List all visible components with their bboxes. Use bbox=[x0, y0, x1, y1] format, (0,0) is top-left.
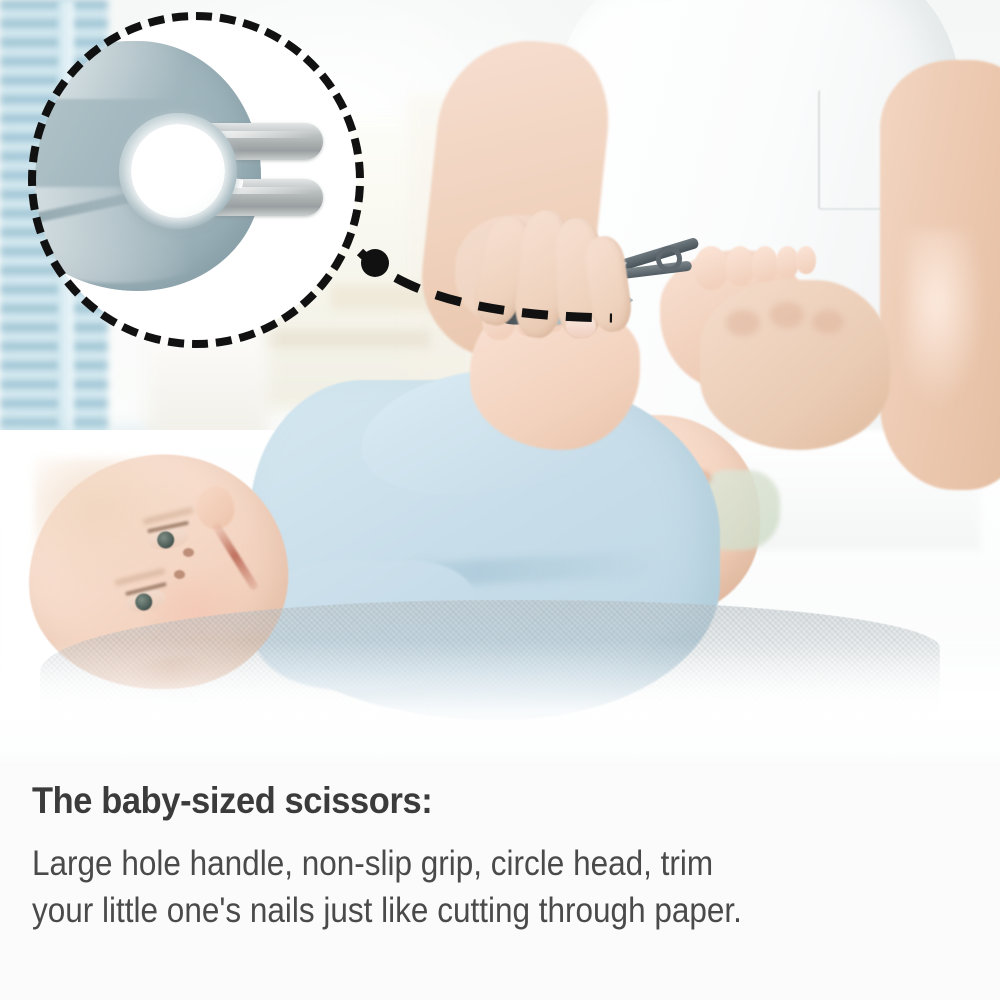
magnified-detail-inset bbox=[28, 12, 364, 348]
caption-heading: The baby-sized scissors: bbox=[32, 780, 904, 823]
product-photo bbox=[0, 0, 1000, 770]
baby-iris-upper bbox=[156, 530, 176, 550]
product-infographic: The baby-sized scissors: Large hole hand… bbox=[0, 0, 1000, 1000]
caption-body-line-2: your little one's nails just like cuttin… bbox=[32, 887, 876, 934]
caption-block: The baby-sized scissors: Large hole hand… bbox=[0, 762, 1000, 1000]
baby-toe bbox=[796, 246, 816, 274]
caption-body-line-1: Large hole handle, non-slip grip, circle… bbox=[32, 840, 876, 887]
fingernail bbox=[566, 314, 596, 338]
baby-nostril-b bbox=[174, 570, 185, 579]
baby-iris-lower bbox=[134, 592, 154, 612]
adult-arm-highlight bbox=[905, 230, 985, 410]
dashed-circle-icon bbox=[28, 12, 364, 348]
baby-nostril-a bbox=[183, 548, 194, 557]
baby-scalp bbox=[34, 458, 194, 588]
adult-hand-cutting bbox=[470, 210, 670, 370]
baby-toe bbox=[752, 246, 778, 282]
adult-hand-holding-foot bbox=[700, 280, 890, 450]
knuckle bbox=[726, 310, 760, 336]
caption-body: Large hole handle, non-slip grip, circle… bbox=[32, 840, 876, 934]
knuckle bbox=[770, 302, 804, 328]
photo-bottom-fade bbox=[0, 640, 1000, 770]
baby-toe bbox=[726, 246, 754, 286]
knuckle bbox=[812, 310, 844, 334]
